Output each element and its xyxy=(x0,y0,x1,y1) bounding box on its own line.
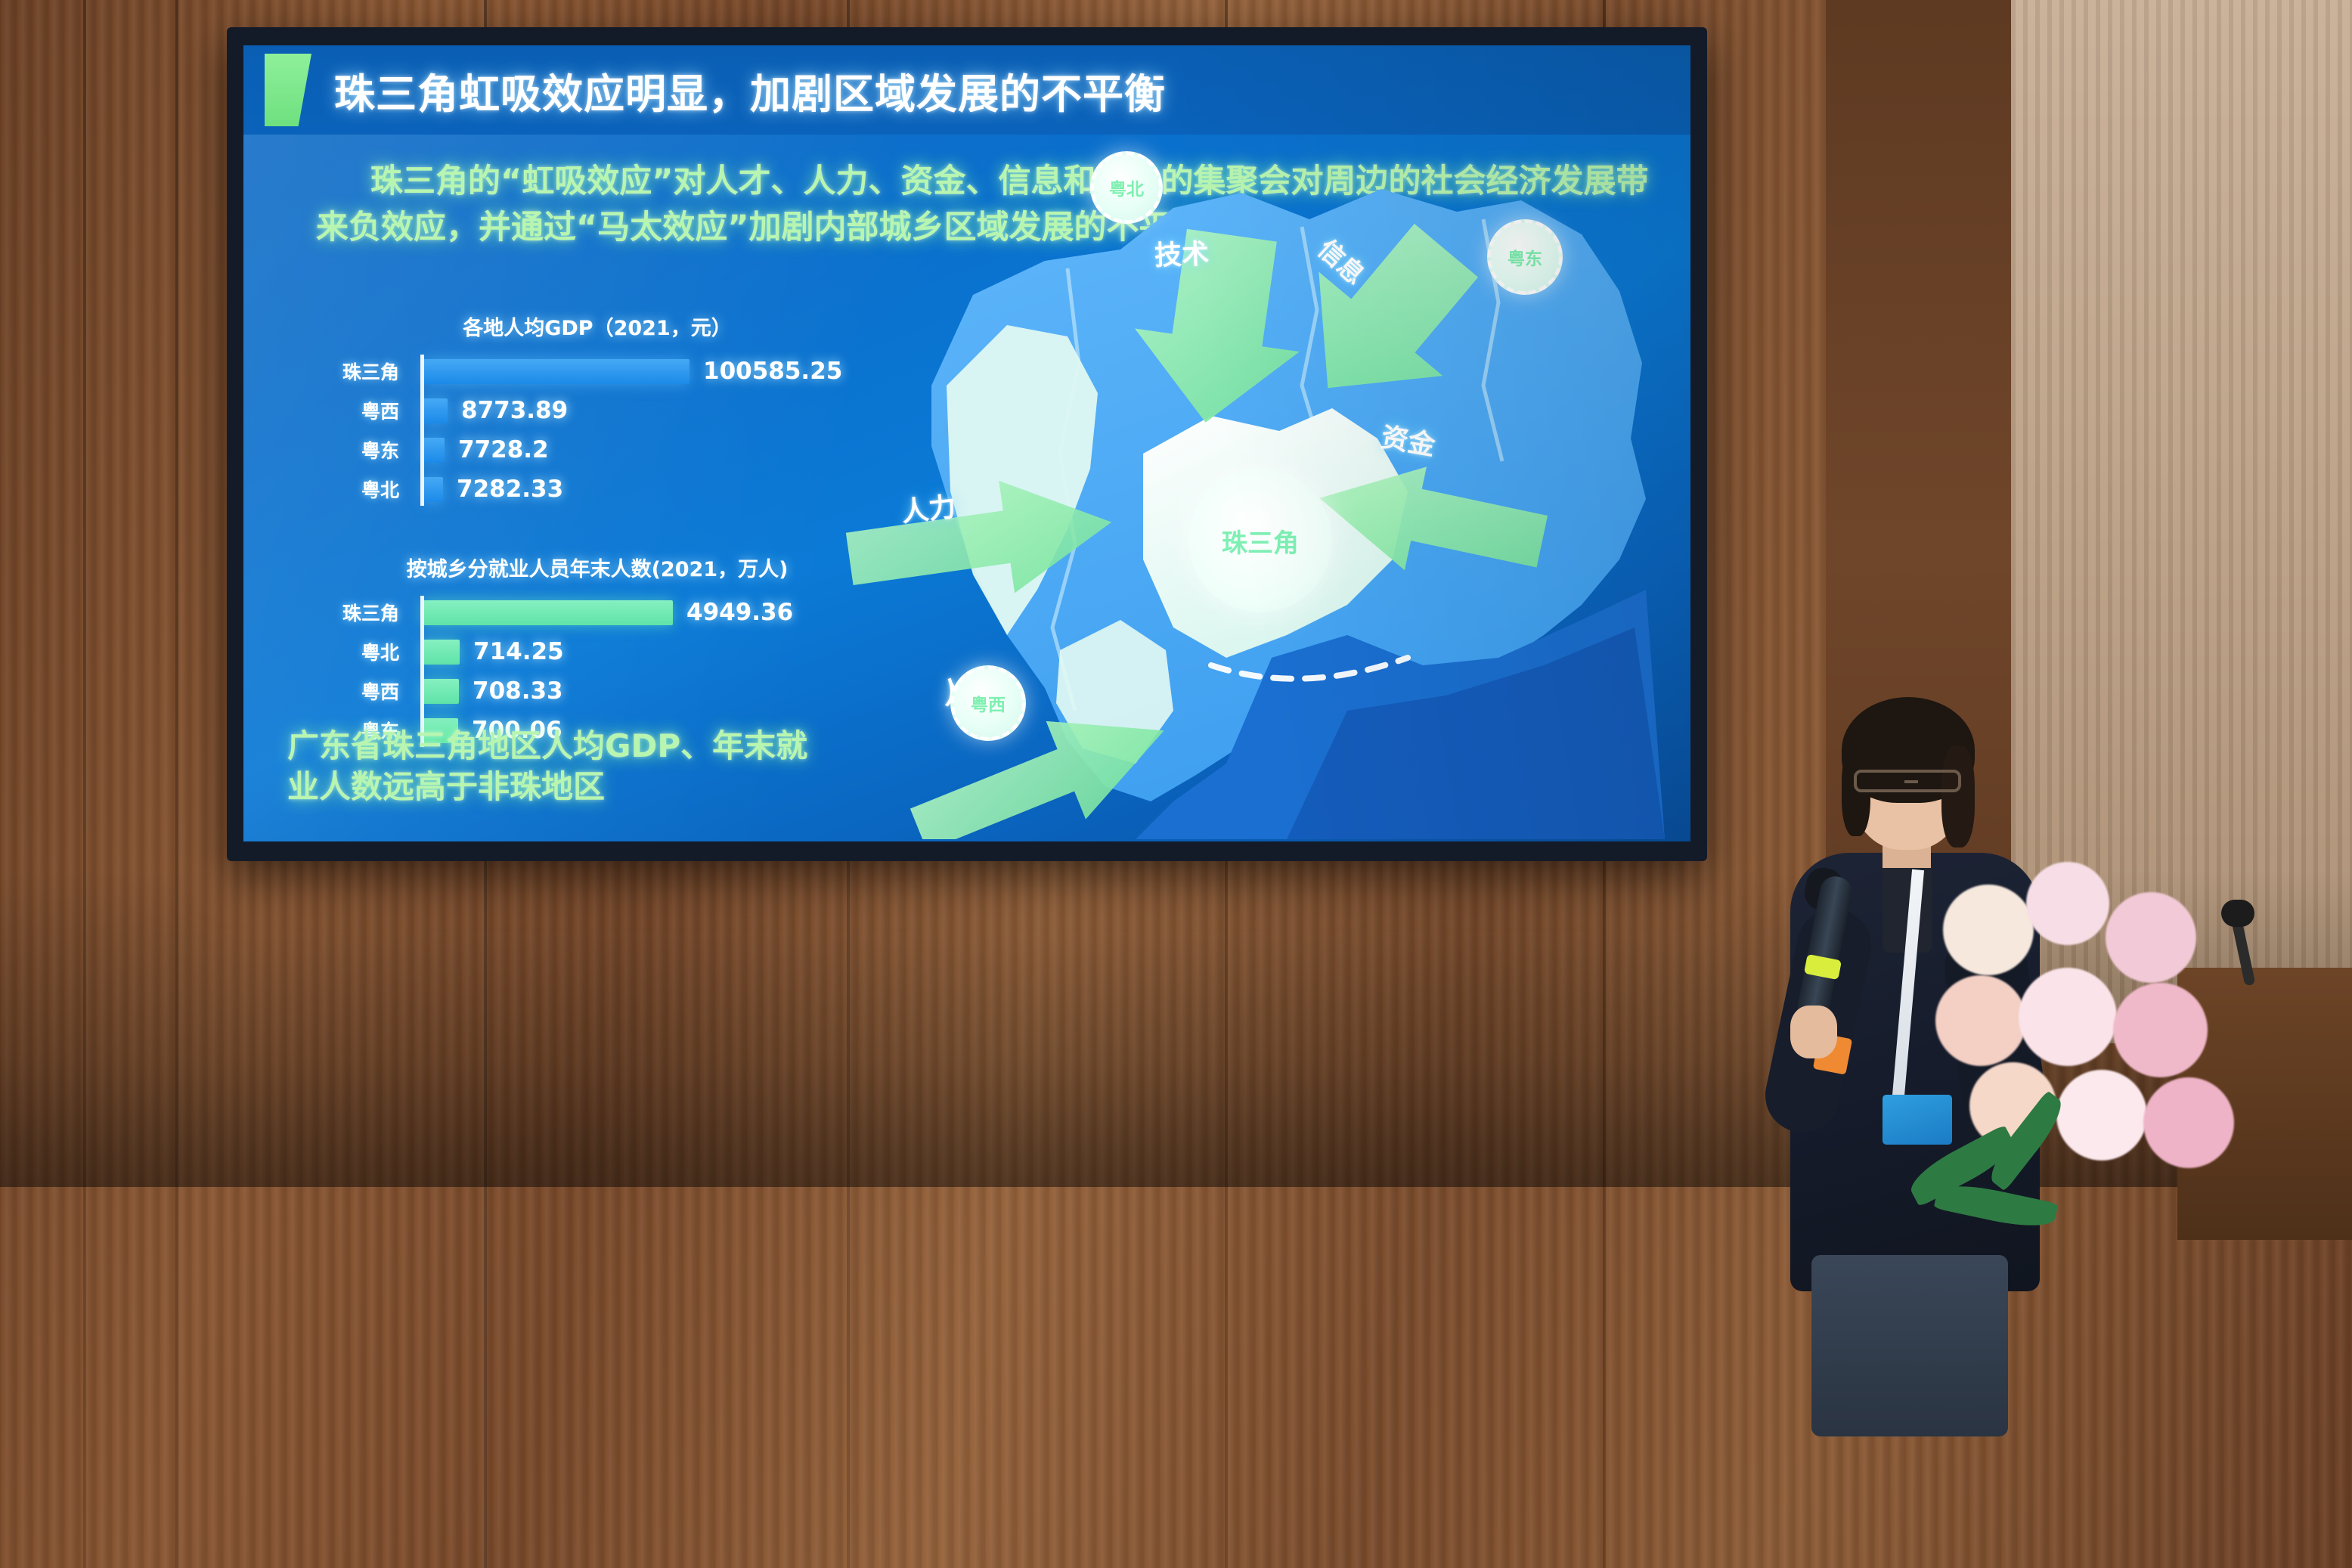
presenter-glasses-icon xyxy=(1854,770,1961,792)
chart-employment: 按城乡分就业人员年末人数(2021，万人) 珠三角 4949.36 粤北 xyxy=(287,553,862,750)
map-circle-yuebei-label: 粤北 xyxy=(1109,175,1144,200)
slide-title-band: 珠三角虹吸效应明显，加剧区域发展的不平衡 xyxy=(243,45,1690,135)
map-sea xyxy=(1136,590,1665,839)
chart-gdp-value: 7728.2 xyxy=(458,436,549,463)
map-arrow-label-technology: 技术 xyxy=(1154,232,1210,273)
map-circle-yuedong: 粤东 xyxy=(1487,219,1563,295)
map-arrow-technology xyxy=(1123,224,1315,434)
chart-gdp-value: 8773.89 xyxy=(461,397,568,424)
chart-gdp-bar-wrap: 8773.89 xyxy=(416,391,862,430)
chart-employment-title: 按城乡分就业人员年末人数(2021，万人) xyxy=(333,553,862,582)
chart-employment-bar xyxy=(423,679,459,704)
chart-employment-category-label: 粤北 xyxy=(287,638,416,665)
map-svg xyxy=(818,136,1687,839)
chart-gdp-category-label: 珠三角 xyxy=(287,358,416,385)
chart-employment-axis xyxy=(420,596,424,747)
map-circle-pearl-river-delta: 珠三角 xyxy=(1188,469,1332,612)
chart-gdp-plot: 珠三角 100585.25 粤西 8773.89 xyxy=(287,352,862,509)
guangdong-map-graphic: 技术 信息 资金 人力 人才 粤北 粤东 粤西 珠三角 xyxy=(818,136,1687,839)
chart-gdp-row: 粤东 7728.2 xyxy=(287,430,862,469)
map-center-label: 珠三角 xyxy=(1222,522,1299,559)
map-province-shape xyxy=(931,189,1646,801)
chart-employment-bar-wrap: 708.33 xyxy=(416,671,862,711)
map-arrow-information xyxy=(1266,197,1506,439)
chart-gdp-bar xyxy=(423,477,443,502)
chart-employment-row: 粤西 708.33 xyxy=(287,671,862,711)
map-region-prd xyxy=(1143,408,1408,658)
chart-employment-value: 708.33 xyxy=(473,677,563,705)
chart-gdp-category-label: 粤西 xyxy=(287,397,416,424)
title-accent-flag-icon xyxy=(265,54,311,126)
presenter-hair-right xyxy=(1941,745,1975,848)
chart-gdp-category-label: 粤东 xyxy=(287,436,416,463)
chart-employment-value: 4949.36 xyxy=(686,599,793,626)
map-circle-yuebei: 粤北 xyxy=(1090,151,1163,224)
chart-gdp-bar xyxy=(423,438,445,463)
flower-anthurium xyxy=(1943,885,2034,975)
chart-employment-value: 714.25 xyxy=(473,638,564,665)
chart-gdp-bar-wrap: 100585.25 xyxy=(416,352,862,391)
map-sea-deep xyxy=(1287,628,1665,839)
map-circle-yuexi: 粤西 xyxy=(950,665,1026,741)
chart-gdp-row: 珠三角 100585.25 xyxy=(287,352,862,391)
chart-employment-category-label: 粤西 xyxy=(287,677,416,705)
map-circle-yuexi-label: 粤西 xyxy=(971,690,1006,716)
slide-title: 珠三角虹吸效应明显，加剧区域发展的不平衡 xyxy=(334,60,1166,120)
slide-caption: 广东省珠三角地区人均GDP、年末就业人数远高于非珠地区 xyxy=(287,726,832,807)
map-arrow-capital xyxy=(1309,446,1553,597)
map-arrow-label-talent: 人才 xyxy=(934,657,998,712)
map-region-southwest xyxy=(1056,620,1173,764)
map-arrow-label-information: 信息 xyxy=(1311,230,1374,292)
chart-employment-bar xyxy=(423,640,460,665)
map-arrow-label-labor: 人力 xyxy=(899,485,957,529)
map-arrow-labor xyxy=(841,466,1119,615)
map-circle-yuedong-label: 粤东 xyxy=(1508,244,1542,270)
chart-gdp-row: 粤北 7282.33 xyxy=(287,469,862,509)
flower-rose xyxy=(2026,862,2109,945)
chart-gdp-value: 7282.33 xyxy=(457,476,563,503)
chart-gdp-bar xyxy=(423,359,689,384)
chart-employment-category-label: 珠三角 xyxy=(287,599,416,626)
map-region-west xyxy=(947,325,1098,635)
projection-screen[interactable]: 珠三角虹吸效应明显，加剧区域发展的不平衡 珠三角的“虹吸效应”对人才、人力、资金… xyxy=(227,27,1707,861)
chart-gdp-category-label: 粤北 xyxy=(287,476,416,503)
chart-employment-bar xyxy=(423,600,673,625)
map-arrow-talent xyxy=(899,681,1184,839)
chart-gdp-bar-wrap: 7282.33 xyxy=(416,469,862,509)
chart-gdp: 各地人均GDP（2021，元） 珠三角 100585.25 粤西 xyxy=(287,311,862,509)
chart-gdp-title: 各地人均GDP（2021，元） xyxy=(333,311,862,341)
chart-employment-row: 珠三角 4949.36 xyxy=(287,593,862,632)
chart-employment-row: 粤北 714.25 xyxy=(287,632,862,671)
audience-foreground: 江 xyxy=(0,978,2352,1568)
chart-employment-bar-wrap: 4949.36 xyxy=(416,593,862,632)
slide-charts-area: 各地人均GDP（2021，元） 珠三角 100585.25 粤西 xyxy=(287,311,862,750)
presentation-slide: 珠三角虹吸效应明显，加剧区域发展的不平衡 珠三角的“虹吸效应”对人才、人力、资金… xyxy=(243,45,1690,841)
chart-gdp-value: 100585.25 xyxy=(703,358,842,385)
map-dashed-coastline xyxy=(1211,658,1408,679)
chart-gdp-row: 粤西 8773.89 xyxy=(287,391,862,430)
chart-gdp-bar-wrap: 7728.2 xyxy=(416,430,862,469)
chart-gdp-axis xyxy=(420,355,424,506)
chart-gdp-bar xyxy=(423,398,448,423)
flower-lily xyxy=(2106,892,2196,983)
map-arrow-label-capital: 资金 xyxy=(1378,415,1439,463)
conference-room-scene: 珠三角虹吸效应明显，加剧区域发展的不平衡 珠三角的“虹吸效应”对人才、人力、资金… xyxy=(0,0,2352,1568)
chart-employment-bar-wrap: 714.25 xyxy=(416,632,862,671)
